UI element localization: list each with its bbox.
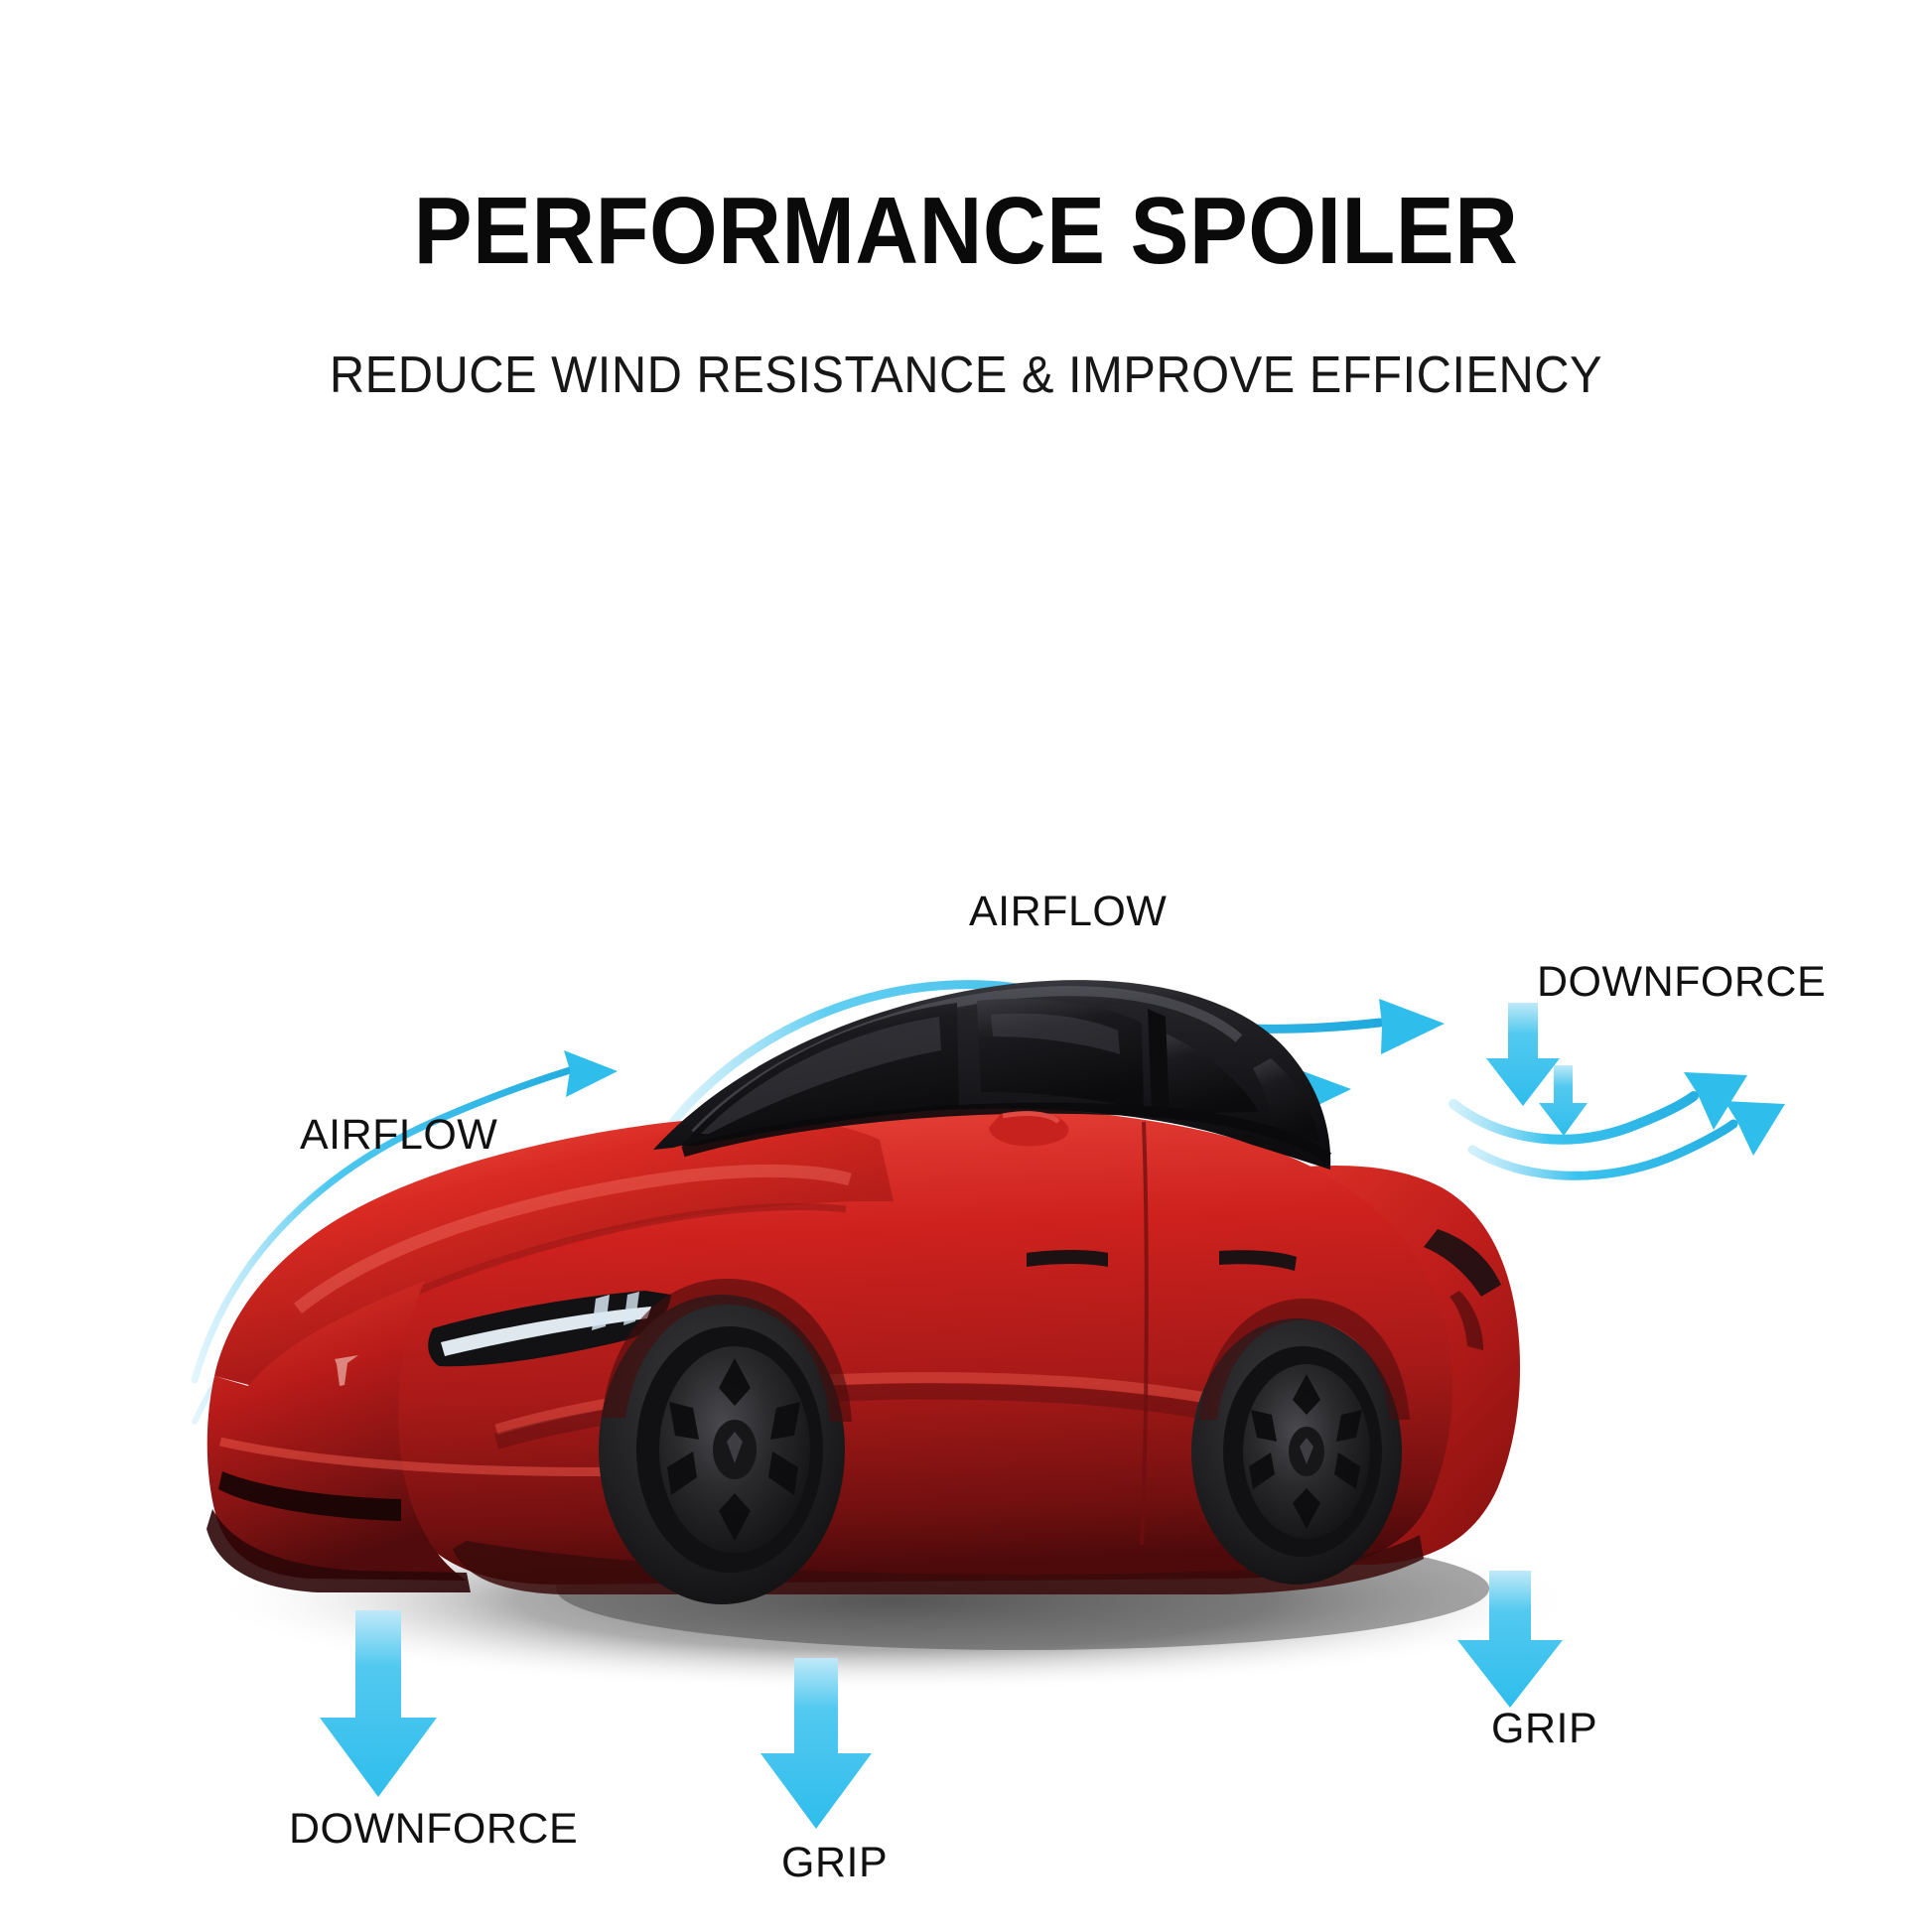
airflow-roof-streams <box>641 985 1445 1170</box>
downforce-front-arrow <box>320 1610 437 1797</box>
brand-badge <box>335 1355 358 1386</box>
rear-upwash-streams <box>1453 1072 1785 1175</box>
label-airflow-roof: AIRFLOW <box>969 891 1167 933</box>
label-airflow-front: AIRFLOW <box>300 1114 497 1157</box>
label-downforce-rear: DOWNFORCE <box>1537 961 1826 1004</box>
grip-rear-arrow <box>1457 1571 1563 1708</box>
downforce-rear-arrows <box>1486 1003 1587 1136</box>
rear-wheel <box>1191 1318 1402 1585</box>
grip-center-arrow <box>760 1658 872 1829</box>
label-grip-rear: GRIP <box>1491 1708 1597 1750</box>
car-ground-shadow <box>208 1509 1579 1692</box>
label-grip-center: GRIP <box>781 1842 888 1884</box>
airflow-front-streams <box>195 1050 618 1422</box>
vehicle-illustration <box>207 980 1520 1604</box>
label-downforce-front: DOWNFORCE <box>289 1808 578 1851</box>
front-wheel <box>599 1295 845 1604</box>
